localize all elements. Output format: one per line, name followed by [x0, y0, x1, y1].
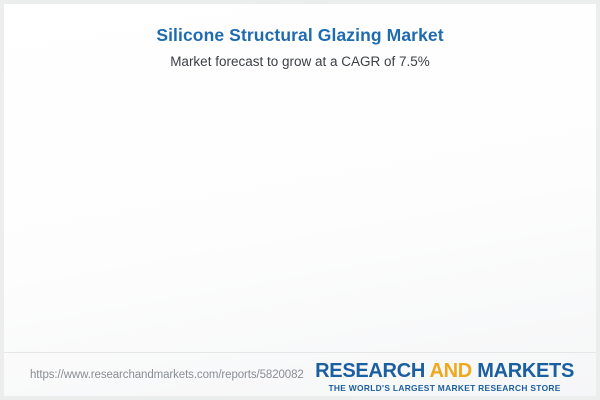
brand-tagline: THE WORLD'S LARGEST MARKET RESEARCH STOR…	[315, 383, 574, 393]
brand-word-and: AND	[430, 360, 472, 382]
brand-word-research: RESEARCH	[315, 360, 425, 382]
infographic-root: Silicone Structural Glazing Market Marke…	[0, 0, 600, 400]
footer: https://www.researchandmarkets.com/repor…	[4, 353, 596, 396]
chart-card: Silicone Structural Glazing Market Marke…	[4, 4, 596, 396]
brand-logo-wordmark: RESEARCH AND MARKETS	[315, 361, 574, 382]
brand-logo[interactable]: RESEARCH AND MARKETS THE WORLD'S LARGEST…	[315, 361, 574, 393]
report-url[interactable]: https://www.researchandmarkets.com/repor…	[30, 369, 304, 381]
brand-word-markets: MARKETS	[477, 360, 574, 382]
chart-plot-area: USD 49.48 Billion 2026 USD 66.16 Billion	[4, 4, 596, 348]
